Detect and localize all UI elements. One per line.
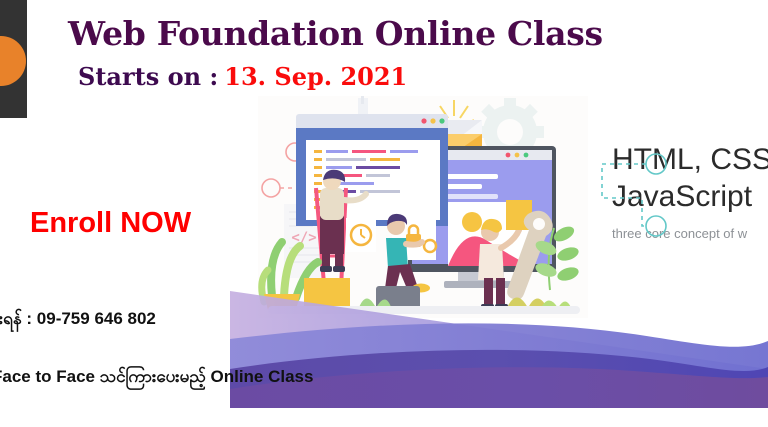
code-tag-icon: </>	[291, 230, 316, 246]
face-to-face-line: Face to Face သင်ကြားပေးမည့် Online Class	[0, 366, 313, 391]
start-date-line: Starts on :13. Sep. 2021	[78, 62, 407, 91]
logo-badge	[0, 0, 27, 118]
starts-on-label: Starts on :	[78, 62, 218, 91]
orange-circle-icon	[0, 36, 26, 86]
starts-on-date: 13. Sep. 2021	[224, 62, 407, 91]
page-title: Web Foundation Online Class	[68, 14, 608, 53]
enroll-now-cta[interactable]: Enroll NOW	[30, 207, 191, 240]
poster-canvas: Web Foundation Online Class Starts on :1…	[0, 0, 768, 427]
clock-icon	[346, 218, 376, 252]
